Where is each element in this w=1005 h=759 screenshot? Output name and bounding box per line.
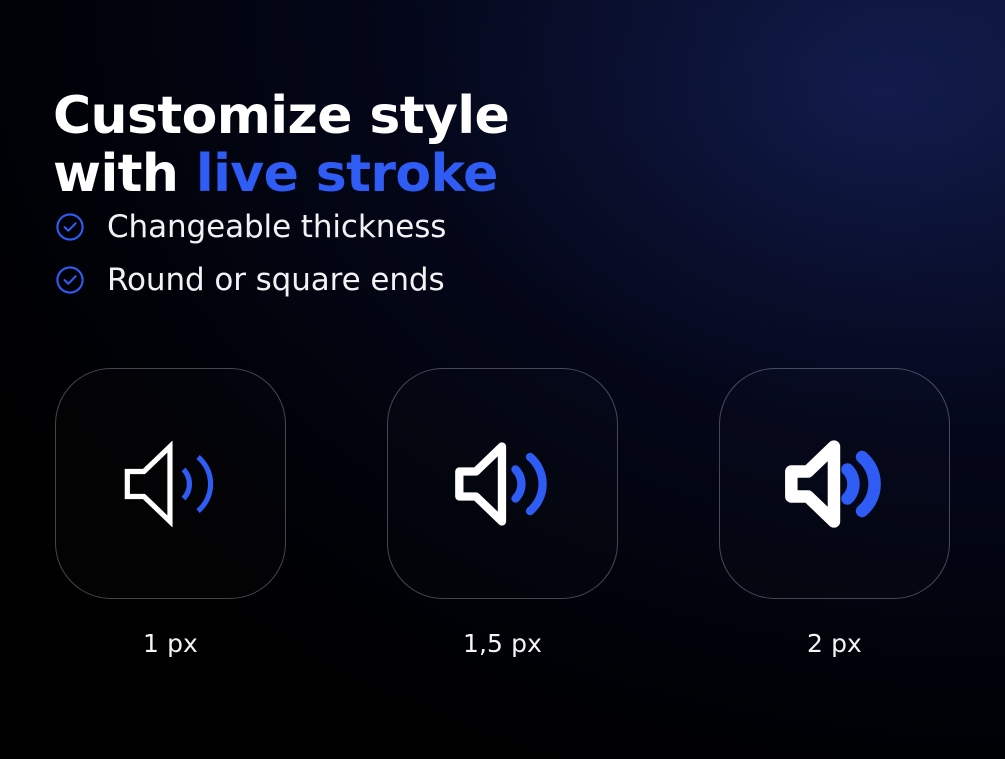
- list-item-label: Changeable thickness: [107, 210, 446, 244]
- stroke-preview-row: 1 px 1,5 px 2 px: [55, 368, 950, 658]
- volume-speaker-icon: [783, 432, 887, 536]
- volume-speaker-icon: [119, 432, 223, 536]
- page-title-line1: Customize style: [53, 86, 509, 146]
- card-label: 1 px: [143, 630, 198, 658]
- slide-root: Customize stylewith live stroke Changeab…: [0, 0, 1005, 759]
- icon-card-2px[interactable]: [719, 368, 950, 599]
- list-item: Round or square ends: [55, 253, 446, 306]
- slide-content: Customize stylewith live stroke Changeab…: [0, 0, 1005, 759]
- card-label: 2 px: [807, 630, 862, 658]
- page-title: Customize stylewith live stroke: [53, 87, 509, 203]
- list-item: Changeable thickness: [55, 200, 446, 253]
- circle-check-icon: [55, 212, 85, 242]
- stroke-preview-cell-1: 1 px: [55, 368, 286, 658]
- circle-check-icon: [55, 265, 85, 295]
- feature-list: Changeable thickness Round or square end…: [55, 200, 446, 306]
- page-title-line2-prefix: with: [53, 144, 196, 204]
- icon-card-1-5px[interactable]: [387, 368, 618, 599]
- stroke-preview-cell-3: 2 px: [719, 368, 950, 658]
- page-title-line2-accent: live stroke: [196, 144, 498, 204]
- stroke-preview-cell-2: 1,5 px: [387, 368, 618, 658]
- icon-card-1px[interactable]: [55, 368, 286, 599]
- list-item-label: Round or square ends: [107, 263, 445, 297]
- volume-speaker-icon: [451, 432, 555, 536]
- card-label: 1,5 px: [463, 630, 542, 658]
